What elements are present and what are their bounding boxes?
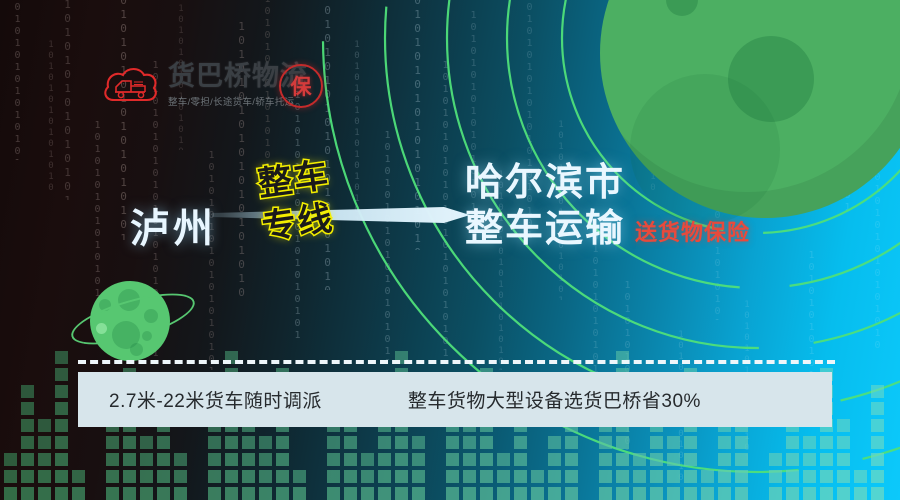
equalizer-bar (769, 453, 782, 500)
equalizer-cell (259, 487, 272, 500)
equalizer-cell (38, 436, 51, 449)
equalizer-cell (21, 436, 34, 449)
equalizer-cell (276, 436, 289, 449)
equalizer-cell (684, 436, 697, 449)
equalizer-cell (4, 453, 17, 466)
equalizer-cell (395, 453, 408, 466)
equalizer-cell (837, 436, 850, 449)
equalizer-cell (395, 470, 408, 483)
equalizer-cell (871, 419, 884, 432)
equalizer-cell (514, 487, 527, 500)
equalizer-cell (871, 470, 884, 483)
equalizer-cell (684, 487, 697, 500)
equalizer-cell (633, 453, 646, 466)
equalizer-cell (242, 487, 255, 500)
equalizer-cell (837, 453, 850, 466)
equalizer-cell (480, 470, 493, 483)
equalizer-cell (259, 470, 272, 483)
equalizer-cell (55, 385, 68, 398)
equalizer-cell (718, 487, 731, 500)
equalizer-cell (106, 453, 119, 466)
equalizer-cell (599, 453, 612, 466)
equalizer-cell (259, 436, 272, 449)
equalizer-cell (718, 453, 731, 466)
equalizer-cell (616, 436, 629, 449)
destination-block: 哈尔滨市 整车运输 送货物保险 (465, 160, 750, 253)
equalizer-bar (463, 419, 476, 500)
equalizer-cell (55, 487, 68, 500)
equalizer-cell (854, 487, 867, 500)
equalizer-cell (463, 453, 476, 466)
origin-city: 泸州 (130, 196, 216, 254)
equalizer-cell (106, 436, 119, 449)
equalizer-cell (803, 453, 816, 466)
equalizer-cell (276, 453, 289, 466)
equalizer-cell (480, 453, 493, 466)
equalizer-cell (55, 368, 68, 381)
equalizer-cell (803, 436, 816, 449)
equalizer-bar (208, 419, 221, 500)
equalizer-cell (514, 470, 527, 483)
equalizer-cell (548, 453, 561, 466)
equalizer-cell (667, 487, 680, 500)
equalizer-cell (497, 470, 510, 483)
equalizer-cell (803, 470, 816, 483)
equalizer-cell (412, 436, 425, 449)
equalizer-cell (616, 470, 629, 483)
equalizer-bar (259, 436, 272, 500)
equalizer-cell (871, 402, 884, 415)
equalizer-cell (514, 453, 527, 466)
equalizer-cell (327, 470, 340, 483)
equalizer-cell (55, 351, 68, 364)
equalizer-bar (55, 351, 68, 500)
equalizer-cell (820, 453, 833, 466)
equalizer-cell (361, 453, 374, 466)
equalizer-cell (123, 487, 136, 500)
equalizer-cell (344, 453, 357, 466)
equalizer-cell (208, 487, 221, 500)
equalizer-cell (412, 453, 425, 466)
equalizer-cell (871, 487, 884, 500)
equalizer-cell (293, 487, 306, 500)
bottom-bar-right-text: 整车货物大型设备选货巴桥省30% (408, 386, 701, 413)
equalizer-cell (72, 470, 85, 483)
brand-logo[interactable]: 货巴桥物流 整车/零担/长途货车/轿车托运 (100, 60, 308, 110)
equalizer-bar (174, 453, 187, 500)
equalizer-bar (531, 470, 544, 500)
equalizer-cell (786, 470, 799, 483)
equalizer-bar (633, 453, 646, 500)
equalizer-cell (667, 436, 680, 449)
equalizer-cell (4, 470, 17, 483)
equalizer-cell (599, 487, 612, 500)
equalizer-cell (650, 470, 663, 483)
bottom-bar-left-text: 2.7米-22米货车随时调派 (109, 386, 322, 413)
equalizer-cell (871, 453, 884, 466)
equalizer-cell (55, 402, 68, 415)
equalizer-cell (667, 470, 680, 483)
equalizer-cell (174, 453, 187, 466)
equalizer-cell (718, 470, 731, 483)
equalizer-cell (378, 453, 391, 466)
equalizer-cell (225, 453, 238, 466)
equalizer-bar (837, 419, 850, 500)
equalizer-bar (21, 385, 34, 500)
equalizer-cell (140, 470, 153, 483)
equalizer-cell (786, 436, 799, 449)
equalizer-cell (412, 470, 425, 483)
equalizer-cell (72, 487, 85, 500)
dashed-divider (78, 360, 835, 364)
equalizer-cell (293, 470, 306, 483)
equalizer-cell (650, 487, 663, 500)
equalizer-cell (21, 487, 34, 500)
equalizer-cell (140, 436, 153, 449)
equalizer-cell (4, 487, 17, 500)
equalizer-cell (123, 453, 136, 466)
equalizer-cell (378, 470, 391, 483)
equalizer-cell (123, 470, 136, 483)
equalizer-cell (361, 487, 374, 500)
equalizer-cell (55, 470, 68, 483)
equalizer-cell (378, 436, 391, 449)
promo-banner: 1010101010101010101010101010101010101010… (0, 0, 900, 500)
equalizer-cell (480, 436, 493, 449)
equalizer-cell (769, 453, 782, 466)
equalizer-cell (548, 470, 561, 483)
equalizer-cell (140, 453, 153, 466)
equalizer-cell (55, 419, 68, 432)
equalizer-cell (735, 487, 748, 500)
equalizer-cell (38, 470, 51, 483)
equalizer-cell (497, 453, 510, 466)
equalizer-bar (548, 436, 561, 500)
equalizer-cell (361, 470, 374, 483)
equalizer-cell (803, 487, 816, 500)
equalizer-cell (531, 487, 544, 500)
equalizer-cell (327, 453, 340, 466)
equalizer-cell (208, 436, 221, 449)
equalizer-cell (38, 487, 51, 500)
equalizer-cell (718, 436, 731, 449)
equalizer-cell (616, 487, 629, 500)
ringed-planet-icon (72, 272, 190, 368)
equalizer-bar (72, 470, 85, 500)
insurance-badge: 保 (279, 64, 323, 108)
equalizer-bar (140, 436, 153, 500)
equalizer-cell (21, 453, 34, 466)
equalizer-cell (735, 470, 748, 483)
equalizer-cell (514, 436, 527, 449)
equalizer-cell (55, 436, 68, 449)
equalizer-bar (361, 453, 374, 500)
equalizer-bar (871, 385, 884, 500)
equalizer-cell (497, 487, 510, 500)
equalizer-cell (650, 453, 663, 466)
equalizer-bar (803, 436, 816, 500)
equalizer-cell (701, 487, 714, 500)
equalizer-cell (412, 487, 425, 500)
equalizer-cell (38, 453, 51, 466)
equalizer-cell (820, 470, 833, 483)
equalizer-cell (446, 470, 459, 483)
equalizer-cell (225, 436, 238, 449)
equalizer-cell (599, 436, 612, 449)
equalizer-cell (446, 436, 459, 449)
equalizer-bar (293, 470, 306, 500)
equalizer-bar (854, 470, 867, 500)
equalizer-cell (837, 487, 850, 500)
equalizer-cell (21, 402, 34, 415)
equalizer-cell (157, 487, 170, 500)
equalizer-cell (242, 436, 255, 449)
equalizer-cell (174, 487, 187, 500)
equalizer-cell (208, 453, 221, 466)
equalizer-cell (871, 385, 884, 398)
equalizer-cell (344, 470, 357, 483)
equalizer-cell (786, 453, 799, 466)
equalizer-cell (548, 436, 561, 449)
equalizer-cell (446, 487, 459, 500)
equalizer-bar (701, 470, 714, 500)
equalizer-cell (633, 470, 646, 483)
equalizer-cell (854, 470, 867, 483)
equalizer-cell (599, 470, 612, 483)
equalizer-cell (633, 487, 646, 500)
equalizer-bar (667, 436, 680, 500)
equalizer-cell (463, 436, 476, 449)
equalizer-cell (650, 436, 663, 449)
equalizer-cell (446, 453, 459, 466)
bottom-info-bar: 2.7米-22米货车随时调派 整车货物大型设备选货巴桥省30% (78, 372, 832, 427)
insurance-note: 送货物保险 (635, 215, 750, 247)
equalizer-cell (395, 487, 408, 500)
equalizer-bar (38, 419, 51, 500)
equalizer-cell (157, 453, 170, 466)
equalizer-cell (395, 436, 408, 449)
equalizer-cell (242, 470, 255, 483)
equalizer-cell (106, 470, 119, 483)
equalizer-cell (208, 470, 221, 483)
destination-service: 整车运输 (465, 206, 625, 252)
equalizer-cell (327, 436, 340, 449)
equalizer-cell (837, 419, 850, 432)
equalizer-cell (21, 385, 34, 398)
equalizer-cell (565, 453, 578, 466)
equalizer-cell (820, 487, 833, 500)
equalizer-cell (55, 453, 68, 466)
equalizer-cell (21, 419, 34, 432)
equalizer-cell (565, 470, 578, 483)
equalizer-cell (786, 487, 799, 500)
equalizer-cell (735, 436, 748, 449)
equalizer-cell (140, 487, 153, 500)
equalizer-bar (412, 436, 425, 500)
equalizer-cell (735, 453, 748, 466)
equalizer-cell (820, 436, 833, 449)
equalizer-cell (327, 487, 340, 500)
equalizer-cell (123, 436, 136, 449)
equalizer-cell (548, 487, 561, 500)
equalizer-cell (259, 453, 272, 466)
equalizer-cell (21, 470, 34, 483)
equalizer-cell (837, 470, 850, 483)
equalizer-cell (684, 470, 697, 483)
equalizer-bar (718, 419, 731, 500)
equalizer-cell (38, 419, 51, 432)
equalizer-cell (157, 436, 170, 449)
equalizer-bar (599, 419, 612, 500)
equalizer-cell (565, 487, 578, 500)
long-arrow-right-icon (212, 196, 472, 236)
equalizer-bar (497, 453, 510, 500)
equalizer-cell (871, 436, 884, 449)
equalizer-bar (327, 419, 340, 500)
equalizer-cell (480, 487, 493, 500)
equalizer-cell (378, 487, 391, 500)
equalizer-cell (174, 470, 187, 483)
equalizer-cell (276, 487, 289, 500)
destination-city: 哈尔滨市 (465, 160, 750, 206)
equalizer-cell (242, 453, 255, 466)
equalizer-cell (769, 487, 782, 500)
equalizer-bar (4, 453, 17, 500)
equalizer-cell (463, 487, 476, 500)
equalizer-cell (344, 487, 357, 500)
equalizer-cell (565, 436, 578, 449)
equalizer-cell (769, 470, 782, 483)
truck-cloud-icon (100, 60, 160, 110)
equalizer-cell (106, 487, 119, 500)
equalizer-cell (684, 453, 697, 466)
equalizer-cell (531, 470, 544, 483)
equalizer-cell (701, 470, 714, 483)
equalizer-cell (463, 470, 476, 483)
equalizer-cell (276, 470, 289, 483)
equalizer-cell (225, 487, 238, 500)
equalizer-cell (667, 453, 680, 466)
equalizer-cell (344, 436, 357, 449)
equalizer-cell (225, 470, 238, 483)
equalizer-cell (616, 453, 629, 466)
equalizer-cell (157, 470, 170, 483)
